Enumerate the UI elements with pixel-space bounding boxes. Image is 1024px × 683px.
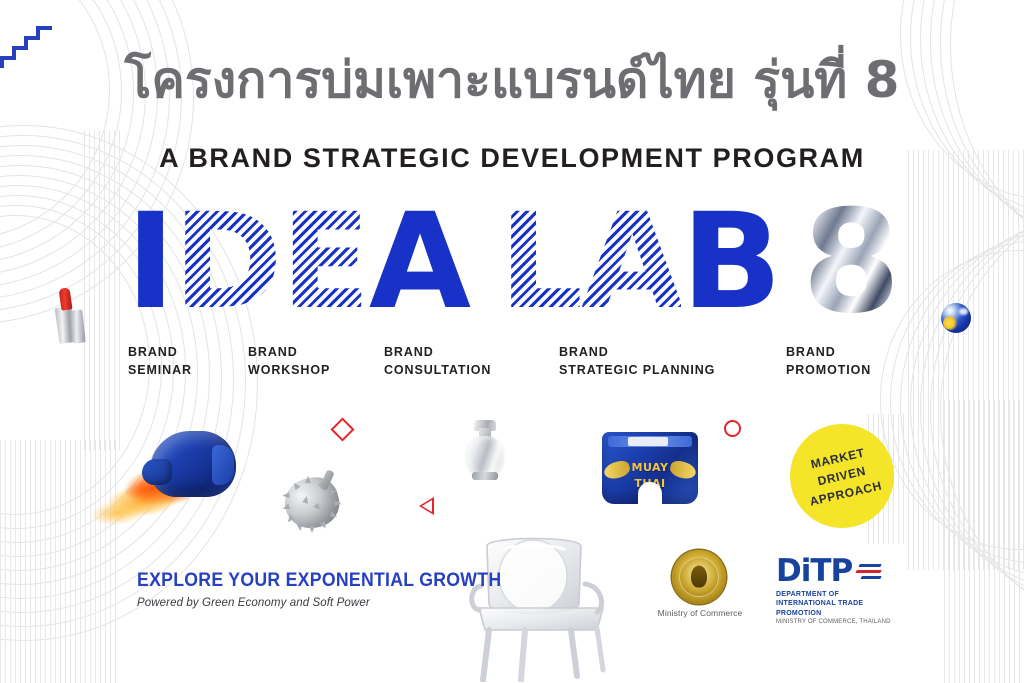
durian-fruit-image xyxy=(285,470,347,532)
wordmark-letter-d: D xyxy=(173,196,281,328)
chrome-eight-numeral: 8 xyxy=(802,198,898,326)
category-line1: BRAND xyxy=(786,343,871,361)
shorts-emblem-text: MUAY THAI xyxy=(618,460,682,476)
wordmark-letter-a: A xyxy=(369,196,469,328)
wordmark-letter-l: L xyxy=(499,196,581,328)
lipstick-product-image xyxy=(49,288,83,346)
glove-thumb xyxy=(142,459,172,485)
wordmark-letter-a2: A xyxy=(581,196,681,328)
tagline-text: EXPLORE YOUR EXPONENTIAL GROWTH xyxy=(137,570,501,592)
ministry-seal-icon xyxy=(672,550,726,604)
shorts-brand-label xyxy=(628,437,668,446)
ditp-wordmark-row: DiTP xyxy=(776,556,902,587)
perfume-base xyxy=(472,472,498,480)
poster-canvas: โครงการบ่มเพาะแบรนด์ไทย รุ่นที่ 8 A BRAN… xyxy=(0,0,1024,683)
durian-spikes xyxy=(285,478,339,528)
circle-accent-icon xyxy=(724,420,741,437)
thai-headline: โครงการบ่มเพาะแบรนด์ไทย รุ่นที่ 8 xyxy=(0,52,1024,110)
badge-text-block: MARKET DRIVEN APPROACH xyxy=(800,441,884,510)
perfume-bottle-image xyxy=(463,418,507,484)
category-line2: STRATEGIC PLANNING xyxy=(559,361,715,379)
ditp-subtitle-line3: MINISTRY OF COMMERCE, THAILAND xyxy=(776,619,902,625)
idea-lab-wordmark: I D E A L A B 8 xyxy=(0,196,1024,328)
wordmark-letter-b: B xyxy=(681,196,780,328)
glove-seam xyxy=(242,457,288,465)
category-line1: BRAND xyxy=(559,343,715,361)
ghost-chair-image xyxy=(463,534,613,682)
ditp-wordmark-text: DiTP xyxy=(776,556,852,587)
category-brand-seminar: BRAND SEMINAR xyxy=(128,343,192,379)
glove-cuff xyxy=(212,445,234,485)
category-line2: SEMINAR xyxy=(128,361,192,379)
category-brand-workshop: BRAND WORKSHOP xyxy=(248,343,330,379)
lipstick-bullet xyxy=(59,287,73,310)
diamond-accent-icon xyxy=(330,417,354,441)
stripe-field-right-lower xyxy=(944,400,1024,683)
shorts-leg-notch xyxy=(638,482,662,504)
category-line2: WORKSHOP xyxy=(248,361,330,379)
english-subtitle: A BRAND STRATEGIC DEVELOPMENT PROGRAM xyxy=(0,143,1024,174)
ditp-logo: DiTP DEPARTMENT OF INTERNATIONAL TRADE P… xyxy=(776,556,902,625)
muay-thai-shorts-image: MUAY THAI xyxy=(602,432,698,504)
ministry-of-commerce-logo xyxy=(672,550,726,604)
category-brand-promotion: BRAND PROMOTION xyxy=(786,343,871,379)
perfume-body xyxy=(467,436,503,476)
triangle-accent-icon xyxy=(419,497,434,515)
category-line2: CONSULTATION xyxy=(384,361,491,379)
category-line1: BRAND xyxy=(384,343,491,361)
marble-sphere-image xyxy=(941,303,971,333)
ditp-subtitle-block: DEPARTMENT OF INTERNATIONAL TRADE PROMOT… xyxy=(776,590,902,618)
category-brand-strategic-planning: BRAND STRATEGIC PLANNING xyxy=(559,343,715,379)
tagline-subtext: Powered by Green Economy and Soft Power xyxy=(137,597,370,609)
boxing-glove-image xyxy=(76,425,236,535)
ministry-seal-center xyxy=(691,566,707,588)
ditp-subtitle-line1: DEPARTMENT OF xyxy=(776,590,902,599)
category-line1: BRAND xyxy=(128,343,192,361)
marble-ball xyxy=(941,303,971,333)
category-line2: PROMOTION xyxy=(786,361,871,379)
ministry-of-commerce-caption: Ministry of Commerce xyxy=(648,608,752,618)
ditp-flag-icon xyxy=(855,561,881,583)
category-brand-consultation: BRAND CONSULTATION xyxy=(384,343,491,379)
market-driven-approach-badge[interactable]: MARKET DRIVEN APPROACH xyxy=(790,424,894,528)
wordmark-letter-i: I xyxy=(126,196,173,328)
ditp-subtitle-line2: INTERNATIONAL TRADE PROMOTION xyxy=(776,599,902,618)
wordmark-letter-e: E xyxy=(281,196,369,328)
category-line1: BRAND xyxy=(248,343,330,361)
